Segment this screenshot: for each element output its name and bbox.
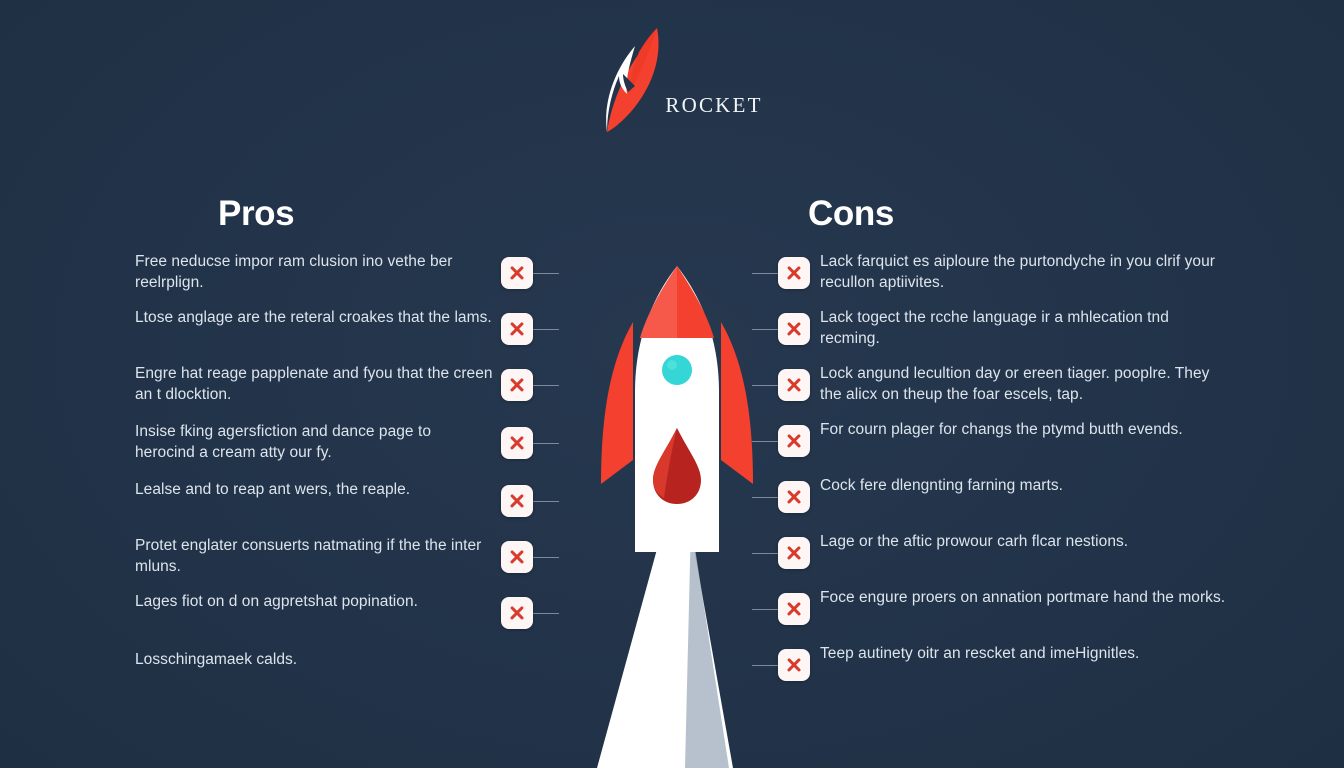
- fin-left: [601, 322, 633, 484]
- list-item[interactable]: Lealse and to reap ant wers, the reaple.: [104, 480, 559, 522]
- exhaust-shadow: [685, 522, 729, 768]
- pros-marker[interactable]: [501, 592, 559, 634]
- brand-name: ROCKET: [665, 93, 762, 118]
- list-item[interactable]: Engre hat reage papplenate and fyou that…: [104, 364, 559, 406]
- list-item[interactable]: Lage or the aftic prowour carh flcar nes…: [752, 532, 1252, 574]
- list-item[interactable]: Teep autinety oitr an rescket and imeHig…: [752, 644, 1252, 686]
- list-item[interactable]: Foce engure proers on annation portmare …: [752, 588, 1252, 630]
- pros-item-text: Lealse and to reap ant wers, the reaple.: [135, 480, 493, 501]
- pros-list: Free neducse impor ram clusion ino vethe…: [104, 252, 559, 706]
- list-item[interactable]: Protet englater consuerts natmating if t…: [104, 536, 559, 578]
- cons-item-text: Foce engure proers on annation portmare …: [820, 588, 1230, 609]
- porthole-glint: [667, 360, 677, 370]
- connector-line: [533, 273, 559, 274]
- x-mark-icon[interactable]: [501, 369, 533, 401]
- connector-line: [533, 385, 559, 386]
- rocket-illustration: [561, 252, 793, 768]
- connector-line: [533, 501, 559, 502]
- x-mark-icon[interactable]: [501, 541, 533, 573]
- pros-item-text: Losschingamaek calds.: [135, 650, 493, 671]
- connector-line: [533, 613, 559, 614]
- cons-item-text: Teep autinety oitr an rescket and imeHig…: [820, 644, 1230, 665]
- pros-heading: Pros: [218, 194, 294, 234]
- list-item[interactable]: Lock angund lecultion day or ereen tiage…: [752, 364, 1252, 406]
- rocket-flame-logo-icon: [581, 24, 673, 132]
- pros-marker[interactable]: [501, 308, 559, 350]
- connector-line: [533, 557, 559, 558]
- pros-item-text: Protet englater consuerts natmating if t…: [135, 536, 493, 577]
- x-mark-icon[interactable]: [501, 257, 533, 289]
- list-item[interactable]: Cock fere dlengnting farning marts.: [752, 476, 1252, 518]
- cons-item-text: Lack farquict es aiploure the purtondych…: [820, 252, 1230, 293]
- pros-marker[interactable]: [501, 480, 559, 522]
- cons-heading: Cons: [808, 194, 894, 234]
- connector-line: [533, 443, 559, 444]
- list-item[interactable]: Lages fiot on d on agpretshat popination…: [104, 592, 559, 634]
- infographic-canvas: ROCKET Pros Cons Free neducse impor ram …: [0, 0, 1344, 768]
- pros-marker[interactable]: [501, 252, 559, 294]
- pros-item-text: Insise fking agersfiction and dance page…: [135, 422, 493, 463]
- cons-item-text: Cock fere dlengnting farning marts.: [820, 476, 1230, 497]
- x-mark-icon[interactable]: [501, 597, 533, 629]
- list-item[interactable]: Insise fking agersfiction and dance page…: [104, 422, 559, 464]
- pros-item-text: Lages fiot on d on agpretshat popination…: [135, 592, 493, 613]
- list-item[interactable]: Lack farquict es aiploure the purtondych…: [752, 252, 1252, 294]
- pros-marker[interactable]: [501, 364, 559, 406]
- connector-line: [533, 329, 559, 330]
- pros-item-text: Free neducse impor ram clusion ino vethe…: [135, 252, 493, 293]
- cons-item-text: Lage or the aftic prowour carh flcar nes…: [820, 532, 1230, 553]
- cons-item-text: For courn plager for changs the ptymd bu…: [820, 420, 1230, 441]
- x-mark-icon[interactable]: [501, 427, 533, 459]
- x-mark-icon[interactable]: [501, 313, 533, 345]
- list-item[interactable]: Ltose anglage are the reteral croakes th…: [104, 308, 559, 350]
- fin-right: [721, 322, 753, 484]
- list-item[interactable]: Lack togect the rcche language ir a mhle…: [752, 308, 1252, 350]
- pros-item-text: Ltose anglage are the reteral croakes th…: [135, 308, 493, 329]
- x-mark-icon[interactable]: [501, 485, 533, 517]
- cons-item-text: Lack togect the rcche language ir a mhle…: [820, 308, 1230, 349]
- pros-marker[interactable]: [501, 422, 559, 464]
- pros-marker[interactable]: [501, 536, 559, 578]
- brand-header: ROCKET: [0, 24, 1344, 132]
- list-item[interactable]: Losschingamaek calds.: [104, 650, 559, 692]
- cons-list: Lack farquict es aiploure the purtondych…: [752, 252, 1252, 700]
- nose-cone-highlight: [640, 266, 677, 338]
- porthole-icon: [662, 355, 692, 385]
- list-item[interactable]: For courn plager for changs the ptymd bu…: [752, 420, 1252, 462]
- list-item[interactable]: Free neducse impor ram clusion ino vethe…: [104, 252, 559, 294]
- pros-marker: [501, 650, 559, 692]
- pros-item-text: Engre hat reage papplenate and fyou that…: [135, 364, 493, 405]
- cons-item-text: Lock angund lecultion day or ereen tiage…: [820, 364, 1230, 405]
